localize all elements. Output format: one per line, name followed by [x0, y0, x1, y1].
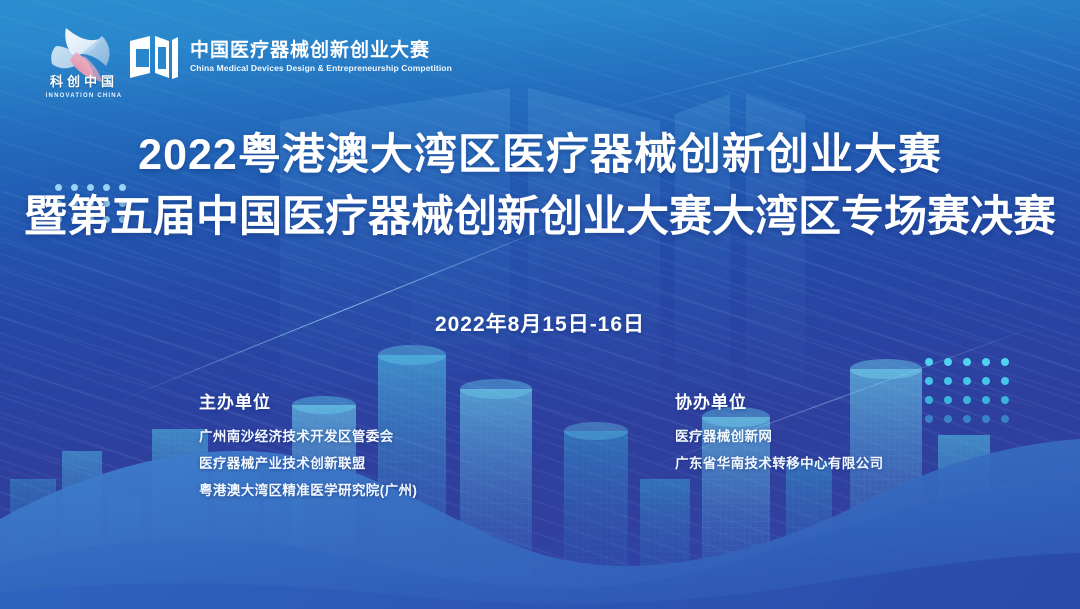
poster-canvas: 科创中国 INNOVATION CHINA 中国医疗器械创新创业大赛 China… [0, 0, 1080, 609]
cohost-column: 协办单位 医疗器械创新网 广东省华南技术转移中心有限公司 [675, 388, 884, 479]
innovation-china-cn: 科创中国 [32, 75, 136, 88]
host-item: 广州南沙经济技术开发区管委会 [199, 425, 417, 445]
host-heading: 主办单位 [199, 388, 417, 413]
host-column: 主办单位 广州南沙经济技术开发区管委会 医疗器械产业技术创新联盟 粤港澳大湾区精… [199, 388, 417, 506]
cohost-item: 医疗器械创新网 [675, 425, 884, 445]
cohost-heading: 协办单位 [675, 388, 884, 413]
competition-title-en: China Medical Devices Design & Entrepren… [190, 63, 452, 74]
title-line-2: 暨第五届中国医疗器械创新创业大赛大湾区专场赛决赛 [0, 188, 1080, 246]
title-line-1: 2022粤港澳大湾区医疗器械创新创业大赛 [0, 126, 1080, 184]
competition-logo: 中国医疗器械创新创业大赛 China Medical Devices Desig… [128, 33, 452, 81]
organizers-section: 主办单位 广州南沙经济技术开发区管委会 医疗器械产业技术创新联盟 粤港澳大湾区精… [0, 388, 1080, 508]
innovation-china-logo: 科创中国 INNOVATION CHINA [32, 22, 136, 102]
host-item: 医疗器械产业技术创新联盟 [199, 452, 417, 472]
header-logos: 科创中国 INNOVATION CHINA 中国医疗器械创新创业大赛 China… [0, 0, 1080, 108]
main-title-block: 2022粤港澳大湾区医疗器械创新创业大赛 暨第五届中国医疗器械创新创业大赛大湾区… [0, 126, 1080, 246]
competition-title-cn: 中国医疗器械创新创业大赛 [190, 40, 452, 62]
innovation-china-en: INNOVATION CHINA [32, 93, 136, 99]
bird-star-logo-icon [32, 22, 136, 102]
open-door-mark-icon [128, 33, 180, 81]
event-date: 2022年8月15日-16日 [0, 308, 1080, 338]
host-item: 粤港澳大湾区精准医学研究院(广州) [199, 479, 417, 499]
cohost-item: 广东省华南技术转移中心有限公司 [675, 452, 884, 472]
